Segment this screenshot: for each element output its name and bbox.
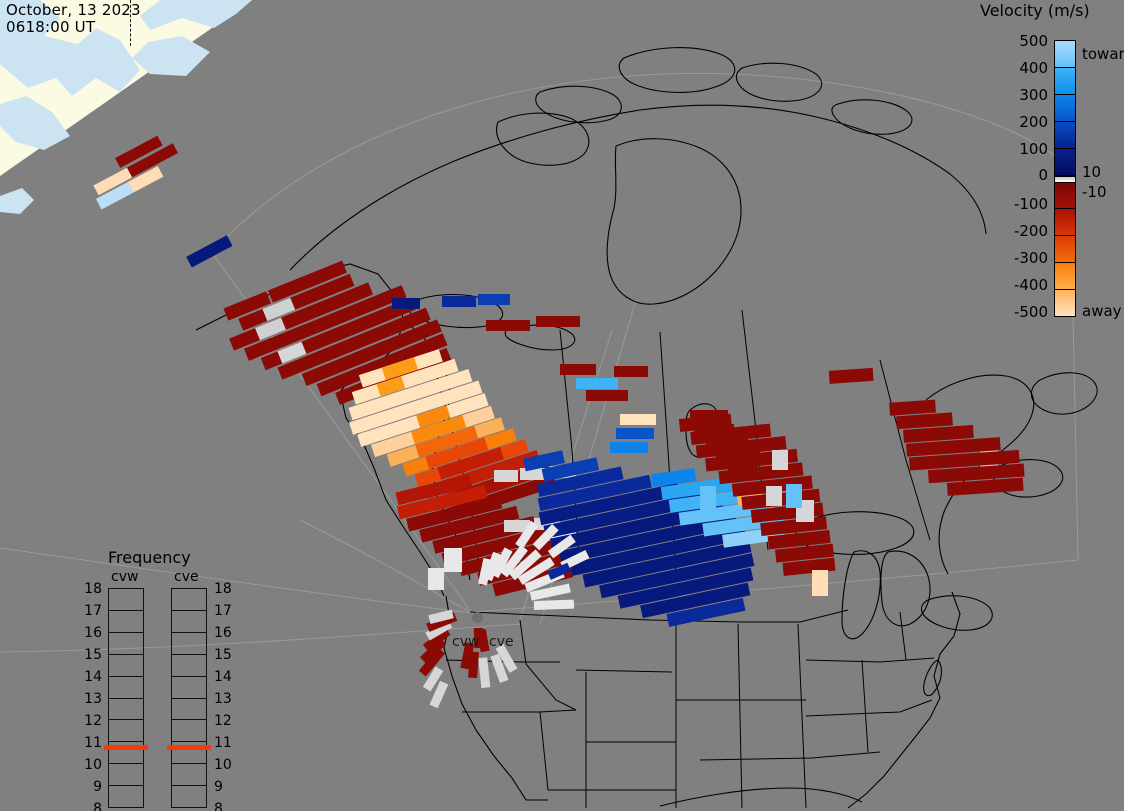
frequency-tick-left-15: 15	[78, 647, 102, 663]
lake-michigan-huron	[842, 551, 880, 639]
velocity-cell	[700, 486, 716, 510]
frequency-tick-left-10: 10	[78, 757, 102, 773]
colorbar-band-400-300	[1055, 68, 1075, 95]
frequency-cell	[172, 677, 206, 699]
colorbar-band-neg200-neg300	[1055, 236, 1075, 263]
colorbar-band-neg300-neg400	[1055, 263, 1075, 290]
frequency-tick-right-14: 14	[214, 669, 238, 685]
velocity-cell	[428, 568, 444, 590]
arctic-island-c	[619, 48, 735, 93]
velocity-cell	[896, 412, 953, 429]
colorbar-tick-0: 0	[1038, 166, 1048, 184]
velocity-legend: Velocity (m/s) 500 400 300 200 100 0 -10…	[962, 0, 1124, 340]
frequency-tick-right-8: 8	[214, 801, 238, 811]
velocity-cell	[829, 368, 874, 384]
frequency-tick-left-13: 13	[78, 691, 102, 707]
frequency-cell	[172, 720, 206, 742]
frequency-cell	[172, 699, 206, 721]
frequency-bar-cve	[171, 588, 207, 808]
frequency-tick-left-9: 9	[78, 779, 102, 795]
colorbar-band-100-10	[1055, 149, 1075, 176]
latitude-arc-upper	[212, 73, 1070, 253]
frequency-tick-left-17: 17	[78, 603, 102, 619]
colorbar-label-neg10: -10	[1082, 183, 1107, 201]
frequency-cell	[109, 720, 143, 742]
colorbar-tick-neg100: -100	[1014, 195, 1048, 213]
chesapeake	[924, 660, 942, 696]
velocity-cell	[536, 316, 580, 327]
colorbar-band-300-200	[1055, 95, 1075, 122]
frequency-tick-left-12: 12	[78, 713, 102, 729]
state-horiz-c	[806, 658, 934, 662]
frequency-cell	[109, 633, 143, 655]
border-nv-ut	[540, 712, 548, 790]
arctic-island-b	[536, 86, 622, 123]
velocity-cell	[812, 570, 828, 596]
velocity-cell	[392, 298, 420, 309]
arctic-island-e	[832, 100, 912, 134]
velocity-cell	[444, 548, 462, 572]
colorbar-band-200-100	[1055, 122, 1075, 149]
velocity-cell	[772, 450, 788, 470]
frequency-cell	[109, 699, 143, 721]
velocity-cell	[576, 378, 618, 389]
colorbar-label-pos10: 10	[1082, 163, 1101, 181]
hudson-bay	[607, 139, 741, 304]
frequency-legend: Frequency cvw cve	[78, 548, 258, 788]
colorbar-tick-500: 500	[1019, 32, 1048, 50]
frequency-cell	[109, 611, 143, 633]
colorbar-tick-neg300: -300	[1014, 249, 1048, 267]
colorbar-tick-200: 200	[1019, 113, 1048, 131]
colorbar-tick-neg500: -500	[1014, 303, 1048, 321]
colorbar-band-500-400	[1055, 41, 1075, 68]
state-horiz-d	[806, 700, 932, 716]
radar-site-label-cvw: cvw	[452, 634, 479, 650]
border-or-ca	[462, 710, 576, 712]
frequency-tick-left-14: 14	[78, 669, 102, 685]
colorbar-label-away: away	[1082, 302, 1122, 320]
frequency-cell	[172, 764, 206, 786]
frequency-column-title-cve: cve	[174, 569, 199, 585]
colorbar-band-neg400-neg500	[1055, 290, 1075, 316]
frequency-marker-cvw	[104, 745, 148, 750]
frequency-cell	[172, 655, 206, 677]
state-horiz-e	[700, 752, 880, 760]
velocity-cell	[766, 486, 782, 506]
velocity-cell	[478, 294, 510, 305]
colorbar-band-neg100-neg200	[1055, 209, 1075, 236]
colorbar-band-neg10-neg100	[1055, 183, 1075, 210]
border-id-mt	[520, 620, 576, 710]
frequency-cell	[172, 633, 206, 655]
velocity-legend-title: Velocity (m/s)	[980, 1, 1090, 20]
newfoundland	[1031, 373, 1097, 414]
velocity-cell	[560, 364, 596, 375]
frequency-tick-right-13: 13	[214, 691, 238, 707]
state-vert-e	[862, 660, 868, 752]
velocity-cell	[614, 366, 648, 377]
velocity-cell	[889, 400, 936, 416]
frequency-tick-right-10: 10	[214, 757, 238, 773]
velocity-cell	[616, 428, 654, 439]
velocity-cell	[442, 296, 476, 307]
frequency-bar-cvw	[108, 588, 144, 808]
velocity-cell	[494, 470, 518, 482]
arctic-island-d	[736, 63, 821, 101]
velocity-cell	[586, 390, 628, 401]
velocity-cell	[610, 442, 648, 453]
radar-site-label-cve: cve	[489, 634, 514, 650]
frequency-tick-right-15: 15	[214, 647, 238, 663]
colorbar-tick-neg400: -400	[1014, 276, 1048, 294]
colorbar-band-groundscatter	[1055, 176, 1075, 183]
frequency-column-title-cvw: cvw	[111, 569, 138, 585]
velocity-colorbar	[1054, 40, 1076, 317]
border-mt-wy	[576, 670, 672, 672]
frequency-tick-right-12: 12	[214, 713, 238, 729]
lake-huron-erie	[881, 551, 930, 626]
frequency-cell	[172, 786, 206, 807]
colorbar-tick-neg200: -200	[1014, 222, 1048, 240]
velocity-cell	[186, 235, 232, 267]
frequency-cell	[109, 786, 143, 807]
frequency-tick-right-11: 11	[214, 735, 238, 751]
velocity-cell	[534, 600, 574, 610]
frequency-tick-right-17: 17	[214, 603, 238, 619]
arctic-island-a	[497, 113, 589, 165]
radar-velocity-map-app: October, 13 20230618:00 UT	[0, 0, 1124, 811]
state-vert-d	[798, 624, 806, 808]
velocity-cell	[486, 320, 530, 331]
frequency-cell	[109, 677, 143, 699]
frequency-tick-left-11: 11	[78, 735, 102, 751]
frequency-legend-title: Frequency	[108, 548, 191, 567]
state-vert-c	[738, 624, 742, 808]
frequency-cell	[172, 589, 206, 611]
frequency-tick-left-16: 16	[78, 625, 102, 641]
velocity-cell	[620, 414, 656, 425]
colorbar-tick-100: 100	[1019, 140, 1048, 158]
radar-site-marker	[472, 612, 483, 623]
colorbar-tick-400: 400	[1019, 59, 1048, 77]
state-vert-f	[900, 612, 906, 660]
frequency-tick-left-18: 18	[78, 581, 102, 597]
frequency-cell	[109, 764, 143, 786]
frequency-cell	[172, 611, 206, 633]
frequency-cell	[109, 589, 143, 611]
velocity-cell	[786, 484, 802, 508]
frequency-tick-left-8: 8	[78, 801, 102, 811]
frequency-tick-right-18: 18	[214, 581, 238, 597]
colorbar-tick-300: 300	[1019, 86, 1048, 104]
frequency-cell	[109, 655, 143, 677]
frequency-marker-cve	[167, 745, 211, 750]
frequency-tick-right-16: 16	[214, 625, 238, 641]
velocity-cell	[478, 657, 490, 688]
frequency-tick-right-9: 9	[214, 779, 238, 795]
colorbar-label-toward: toward	[1082, 45, 1124, 63]
gulf-coast	[660, 788, 862, 806]
